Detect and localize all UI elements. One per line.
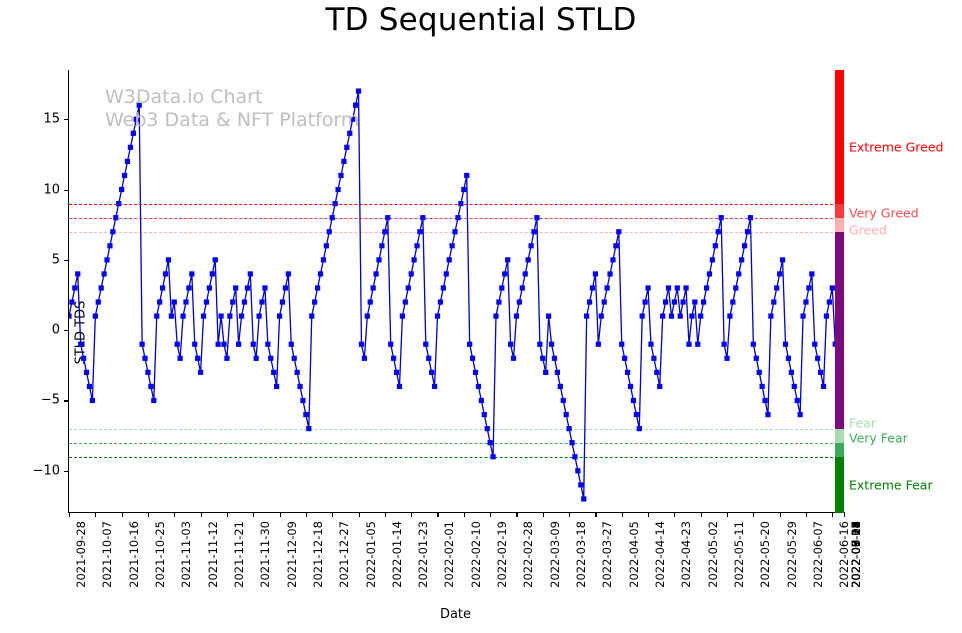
data-point-marker [727, 314, 732, 319]
data-point-marker [683, 285, 688, 290]
x-tick-mark [648, 512, 649, 517]
data-point-marker [789, 370, 794, 375]
data-point-marker [663, 299, 668, 304]
x-tick-mark [753, 512, 754, 517]
data-point-marker [236, 342, 241, 347]
data-point-marker [303, 412, 308, 417]
data-point-marker [151, 398, 156, 403]
data-point-marker [681, 299, 686, 304]
data-point-marker [786, 356, 791, 361]
data-point-marker [318, 271, 323, 276]
data-point-marker [678, 314, 683, 319]
data-point-marker [75, 271, 80, 276]
data-point-marker [426, 356, 431, 361]
data-point-marker [180, 314, 185, 319]
x-tick-label: 2022-02-10 [469, 521, 483, 588]
data-point-marker [262, 285, 267, 290]
x-tick-mark [332, 512, 333, 517]
data-point-marker [362, 356, 367, 361]
data-point-marker [555, 370, 560, 375]
zone-label-fear: Fear [849, 415, 876, 430]
data-point-marker [561, 398, 566, 403]
data-point-marker [122, 173, 127, 178]
x-tick-mark [359, 512, 360, 517]
data-point-marker [411, 257, 416, 262]
data-point-marker [394, 370, 399, 375]
x-tick-label: 2021-12-09 [285, 521, 299, 588]
data-point-marker [99, 285, 104, 290]
data-point-marker [625, 370, 630, 375]
data-point-marker [268, 356, 273, 361]
data-point-marker [751, 342, 756, 347]
data-point-marker [353, 103, 358, 108]
data-point-marker [417, 229, 422, 234]
gauge-segment [835, 218, 844, 232]
data-point-marker [134, 117, 139, 122]
data-point-marker [470, 356, 475, 361]
plot-inner [69, 70, 843, 512]
data-point-marker [198, 370, 203, 375]
data-point-marker [160, 285, 165, 290]
zone-label-extreme-greed: Extreme Greed [849, 140, 943, 155]
data-point-marker [818, 370, 823, 375]
data-point-marker [534, 215, 539, 220]
data-point-marker [502, 271, 507, 276]
data-point-marker [821, 384, 826, 389]
data-point-marker [245, 285, 250, 290]
data-point-marker [689, 314, 694, 319]
data-point-marker [251, 342, 256, 347]
x-tick-label: 2022-03-18 [574, 521, 588, 588]
data-point-marker [558, 384, 563, 389]
data-point-marker [809, 271, 814, 276]
data-point-marker [508, 342, 513, 347]
data-point-marker [96, 299, 101, 304]
zone-label-very-greed: Very Greed [849, 206, 919, 221]
x-tick-label: 2021-10-16 [127, 521, 141, 588]
data-point-marker [142, 356, 147, 361]
x-tick-label: 2021-11-30 [258, 521, 272, 588]
data-point-marker [280, 299, 285, 304]
data-point-marker [371, 285, 376, 290]
data-point-marker [537, 342, 542, 347]
data-point-marker [104, 257, 109, 262]
x-tick-mark [253, 512, 254, 517]
data-point-marker [347, 131, 352, 136]
data-point-marker [672, 299, 677, 304]
data-point-marker [213, 257, 218, 262]
data-point-marker [777, 271, 782, 276]
x-tick-mark [122, 512, 123, 517]
gauge-segment [835, 204, 844, 218]
data-point-marker [327, 229, 332, 234]
data-point-marker [526, 257, 531, 262]
data-point-marker [669, 314, 674, 319]
data-point-marker [315, 285, 320, 290]
data-point-marker [441, 285, 446, 290]
data-point-marker [400, 314, 405, 319]
data-point-marker [566, 426, 571, 431]
x-tick-mark [727, 512, 728, 517]
data-point-marker [543, 370, 548, 375]
data-point-marker [107, 243, 112, 248]
data-point-marker [365, 314, 370, 319]
zone-label-greed: Greed [849, 223, 887, 238]
data-point-marker [736, 271, 741, 276]
data-point-marker [610, 257, 615, 262]
data-point-marker [701, 299, 706, 304]
x-tick-label: 2022-03-09 [548, 521, 562, 588]
data-point-marker [710, 257, 715, 262]
x-tick-label: 2022-01-14 [390, 521, 404, 588]
data-point-marker [523, 271, 528, 276]
data-point-marker [385, 215, 390, 220]
data-point-marker [335, 187, 340, 192]
data-point-marker [482, 412, 487, 417]
data-point-marker [578, 482, 583, 487]
x-tick-label: 2022-04-23 [679, 521, 693, 588]
data-point-marker [762, 398, 767, 403]
data-point-marker [528, 243, 533, 248]
data-point-marker [300, 398, 305, 403]
data-point-marker [183, 299, 188, 304]
data-point-marker [72, 285, 77, 290]
data-point-marker [765, 412, 770, 417]
data-point-marker [569, 440, 574, 445]
x-tick-mark [569, 512, 570, 517]
data-point-marker [651, 356, 656, 361]
data-point-marker [274, 384, 279, 389]
data-point-marker [221, 342, 226, 347]
data-point-marker [391, 356, 396, 361]
data-point-marker [496, 299, 501, 304]
data-point-marker [648, 342, 653, 347]
data-point-marker [499, 285, 504, 290]
x-tick-mark [844, 512, 845, 517]
data-point-marker [125, 159, 130, 164]
data-point-marker [634, 412, 639, 417]
x-tick-label: 2022-03-27 [600, 521, 614, 588]
data-point-marker [461, 187, 466, 192]
data-point-marker [210, 271, 215, 276]
data-point-marker [637, 426, 642, 431]
data-point-marker [631, 398, 636, 403]
data-point-marker [716, 229, 721, 234]
zone-label-very-fear: Very Fear [849, 431, 908, 446]
data-point-marker [189, 271, 194, 276]
data-point-marker [613, 243, 618, 248]
data-point-marker [686, 342, 691, 347]
data-point-marker [792, 384, 797, 389]
data-point-marker [467, 342, 472, 347]
data-point-marker [248, 271, 253, 276]
data-point-marker [458, 201, 463, 206]
data-point-marker [350, 117, 355, 122]
data-point-marker [175, 342, 180, 347]
x-tick-mark [280, 512, 281, 517]
data-point-marker [113, 215, 118, 220]
data-point-marker [69, 299, 74, 304]
x-tick-label: 2022-05-20 [758, 521, 772, 588]
x-tick-label: 2022-01-23 [416, 521, 430, 588]
data-point-marker [622, 356, 627, 361]
x-tick-mark [437, 512, 438, 517]
gauge-segment [835, 70, 844, 204]
data-point-marker [423, 342, 428, 347]
data-point-marker [581, 496, 586, 501]
data-point-marker [438, 299, 443, 304]
data-point-marker [292, 356, 297, 361]
data-point-marker [511, 356, 516, 361]
data-point-marker [321, 257, 326, 262]
data-point-marker [812, 342, 817, 347]
data-point-marker [435, 314, 440, 319]
data-point-marker [450, 243, 455, 248]
x-tick-label: 2022-02-19 [495, 521, 509, 588]
data-point-marker [218, 314, 223, 319]
data-point-marker [540, 356, 545, 361]
x-tick-label: 2021-11-21 [232, 521, 246, 588]
data-point-marker [356, 89, 361, 94]
data-point-marker [216, 342, 221, 347]
x-tick-mark [490, 512, 491, 517]
data-point-marker [707, 271, 712, 276]
data-point-marker [517, 299, 522, 304]
data-point-marker [575, 468, 580, 473]
data-point-marker [359, 342, 364, 347]
data-point-marker [490, 454, 495, 459]
data-point-marker [724, 356, 729, 361]
data-point-marker [128, 145, 133, 150]
x-tick-label: 2021-11-03 [179, 521, 193, 588]
data-point-marker [330, 215, 335, 220]
data-point-marker [643, 299, 648, 304]
data-point-marker [306, 426, 311, 431]
data-point-marker [666, 285, 671, 290]
data-point-marker [239, 314, 244, 319]
data-point-marker [488, 440, 493, 445]
data-point-marker [432, 384, 437, 389]
data-point-marker [800, 314, 805, 319]
data-point-marker [271, 370, 276, 375]
data-point-marker [564, 412, 569, 417]
data-point-marker [154, 314, 159, 319]
x-tick-mark [411, 512, 412, 517]
data-point-marker [224, 356, 229, 361]
data-point-marker [447, 257, 452, 262]
data-point-marker [479, 398, 484, 403]
x-tick-label: 2022-06-07 [811, 521, 825, 588]
data-point-marker [798, 412, 803, 417]
data-point-marker [178, 356, 183, 361]
data-point-marker [803, 299, 808, 304]
data-point-marker [619, 342, 624, 347]
x-tick-mark [832, 512, 833, 517]
data-point-marker [376, 257, 381, 262]
x-tick-mark [464, 512, 465, 517]
x-tick-label: 2021-11-12 [206, 521, 220, 588]
data-point-marker [602, 299, 607, 304]
data-point-marker [455, 215, 460, 220]
x-tick-mark [701, 512, 702, 517]
data-point-marker [605, 285, 610, 290]
data-point-marker [476, 384, 481, 389]
series-line [69, 91, 843, 499]
data-point-marker [265, 342, 270, 347]
data-point-marker [584, 314, 589, 319]
x-tick-mark [148, 512, 149, 517]
data-point-marker [397, 384, 402, 389]
data-point-marker [312, 299, 317, 304]
x-tick-mark [201, 512, 202, 517]
data-point-marker [78, 342, 83, 347]
data-point-marker [338, 173, 343, 178]
data-point-marker [485, 426, 490, 431]
data-point-marker [549, 342, 554, 347]
data-point-marker [101, 271, 106, 276]
data-point-marker [754, 356, 759, 361]
gauge-segment [835, 443, 844, 457]
data-point-marker [116, 201, 121, 206]
data-point-marker [230, 299, 235, 304]
data-point-marker [780, 257, 785, 262]
data-point-marker [815, 356, 820, 361]
data-point-marker [599, 314, 604, 319]
data-point-marker [719, 215, 724, 220]
data-point-marker [514, 314, 519, 319]
data-point-marker [774, 285, 779, 290]
data-point-marker [259, 299, 264, 304]
data-point-marker [713, 243, 718, 248]
x-tick-mark [806, 512, 807, 517]
data-point-marker [140, 342, 145, 347]
data-point-marker [806, 285, 811, 290]
data-point-marker [169, 314, 174, 319]
x-tick-label: 2022-05-02 [706, 521, 720, 588]
data-point-marker [739, 257, 744, 262]
gauge-segment [835, 232, 844, 429]
data-point-marker [192, 342, 197, 347]
x-tick-mark [227, 512, 228, 517]
data-point-marker [593, 271, 598, 276]
data-point-marker [692, 299, 697, 304]
data-point-marker [297, 384, 302, 389]
data-point-marker [289, 342, 294, 347]
x-tick-label: 2022-05-11 [732, 521, 746, 588]
x-tick-mark [780, 512, 781, 517]
data-point-marker [87, 384, 92, 389]
data-point-marker [286, 271, 291, 276]
x-tick-mark [385, 512, 386, 517]
data-point-marker [172, 299, 177, 304]
gauge-segment [835, 429, 844, 443]
x-tick-label: 2022-04-14 [653, 521, 667, 588]
data-point-marker [227, 314, 232, 319]
data-point-marker [157, 299, 162, 304]
data-series [69, 70, 843, 512]
data-point-marker [93, 314, 98, 319]
data-point-marker [452, 229, 457, 234]
data-point-marker [409, 271, 414, 276]
data-point-marker [166, 257, 171, 262]
data-point-marker [783, 342, 788, 347]
data-point-marker [429, 370, 434, 375]
data-point-marker [473, 370, 478, 375]
data-point-marker [760, 384, 765, 389]
chart-page: TD Sequential STLD 2022-09-23 STLD TDS: … [0, 0, 962, 633]
data-point-marker [657, 384, 662, 389]
x-tick-label: 2021-10-25 [153, 521, 167, 588]
data-point-marker [757, 370, 762, 375]
x-tick-mark [516, 512, 517, 517]
data-point-marker [341, 159, 346, 164]
data-point-marker [333, 201, 338, 206]
data-point-marker [464, 173, 469, 178]
data-point-marker [704, 285, 709, 290]
data-point-marker [733, 285, 738, 290]
data-point-marker [256, 314, 261, 319]
data-point-marker [444, 271, 449, 276]
data-point-marker [84, 370, 89, 375]
data-point-marker [795, 398, 800, 403]
data-point-marker [675, 285, 680, 290]
x-tick-label: 2022-04-05 [627, 521, 641, 588]
data-point-marker [201, 314, 206, 319]
data-point-marker [742, 243, 747, 248]
data-point-marker [768, 314, 773, 319]
x-tick-label: 2021-12-18 [311, 521, 325, 588]
x-tick-mark [543, 512, 544, 517]
data-point-marker [277, 314, 282, 319]
data-point-marker [309, 314, 314, 319]
data-point-marker [552, 356, 557, 361]
data-point-marker [520, 285, 525, 290]
data-point-marker [587, 299, 592, 304]
data-point-marker [344, 145, 349, 150]
data-point-marker [69, 314, 72, 319]
zone-label-extreme-fear: Extreme Fear [849, 477, 933, 492]
x-tick-mark [306, 512, 307, 517]
data-point-marker [283, 285, 288, 290]
data-point-marker [233, 285, 238, 290]
data-point-marker [596, 342, 601, 347]
data-point-marker [137, 103, 142, 108]
data-point-marker [207, 285, 212, 290]
x-tick-label: 2022-05-29 [785, 521, 799, 588]
data-point-marker [748, 215, 753, 220]
data-point-marker [572, 454, 577, 459]
gauge-segment [835, 457, 844, 513]
x-tick-label: 2022-02-28 [521, 521, 535, 588]
data-point-marker [827, 299, 832, 304]
x-tick-label: 2022-09-23 [849, 521, 863, 588]
x-tick-label: 2021-09-28 [74, 521, 88, 588]
data-point-marker [745, 229, 750, 234]
x-tick-label: 2021-10-07 [100, 521, 114, 588]
data-point-marker [388, 342, 393, 347]
data-point-marker [406, 285, 411, 290]
data-point-marker [119, 187, 124, 192]
x-tick-mark [622, 512, 623, 517]
data-point-marker [640, 314, 645, 319]
data-point-marker [414, 243, 419, 248]
data-point-marker [163, 271, 168, 276]
data-point-marker [186, 285, 191, 290]
data-point-marker [324, 243, 329, 248]
x-axis-label: Date [68, 607, 843, 622]
data-point-marker [368, 299, 373, 304]
data-point-marker [505, 257, 510, 262]
